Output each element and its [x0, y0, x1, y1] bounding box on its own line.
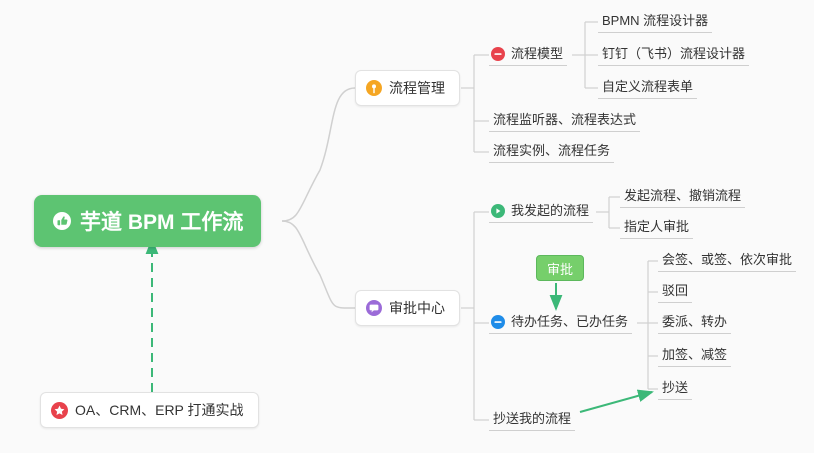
branch-label: 流程管理: [389, 78, 445, 98]
node-label: 我发起的流程: [511, 202, 589, 220]
annotation-label: OA、CRM、ERP 打通实战: [75, 400, 244, 420]
node-dingtalk-designer[interactable]: 钉钉（飞书）流程设计器: [598, 44, 749, 66]
node-label: 会签、或签、依次审批: [662, 251, 792, 269]
root-node[interactable]: 芋道 BPM 工作流: [34, 195, 261, 247]
node-label: 流程模型: [511, 45, 563, 63]
node-start-cancel-process[interactable]: 发起流程、撤销流程: [620, 186, 745, 208]
thumbs-up-icon: [52, 211, 72, 231]
play-circle-icon: [491, 204, 505, 218]
node-my-started-processes[interactable]: 我发起的流程: [489, 201, 593, 223]
branch-label: 审批中心: [389, 298, 445, 318]
node-label: BPMN 流程设计器: [602, 12, 708, 30]
node-listener-expression[interactable]: 流程监听器、流程表达式: [489, 110, 640, 132]
node-delegate-transfer[interactable]: 委派、转办: [658, 312, 731, 334]
node-label: 钉钉（飞书）流程设计器: [602, 45, 745, 63]
node-label: 发起流程、撤销流程: [624, 187, 741, 205]
mindmap-canvas: 芋道 BPM 工作流 流程管理 流程模型 BPMN 流程设计器 钉钉（飞书）流程…: [0, 0, 814, 453]
node-label: 流程监听器、流程表达式: [493, 111, 636, 129]
node-bpmn-designer[interactable]: BPMN 流程设计器: [598, 11, 712, 33]
node-cc[interactable]: 抄送: [658, 378, 692, 400]
branch-node-process-management[interactable]: 流程管理: [355, 70, 460, 106]
branch-node-approval-center[interactable]: 审批中心: [355, 290, 460, 326]
node-todo-done-tasks[interactable]: 待办任务、已办任务: [489, 312, 632, 334]
node-cc-to-me[interactable]: 抄送我的流程: [489, 409, 575, 431]
node-reject[interactable]: 驳回: [658, 281, 692, 303]
node-label: 自定义流程表单: [602, 78, 693, 96]
node-label: 抄送: [662, 379, 688, 397]
node-label: 委派、转办: [662, 313, 727, 331]
node-label: 抄送我的流程: [493, 410, 571, 428]
node-label: 待办任务、已办任务: [511, 313, 628, 331]
annotation-integration-note[interactable]: OA、CRM、ERP 打通实战: [40, 392, 259, 428]
node-instance-task[interactable]: 流程实例、流程任务: [489, 141, 614, 163]
star-circle-icon: [51, 402, 68, 419]
annotation-approval-callout[interactable]: 审批: [536, 255, 584, 281]
node-add-remove-sign[interactable]: 加签、减签: [658, 345, 731, 367]
annotation-label: 审批: [547, 259, 573, 278]
root-label: 芋道 BPM 工作流: [80, 206, 243, 236]
chat-icon: [366, 300, 382, 316]
node-process-model[interactable]: 流程模型: [489, 44, 567, 66]
node-label: 加签、减签: [662, 346, 727, 364]
minus-circle-blue-icon: [491, 315, 505, 329]
node-label: 指定人审批: [624, 218, 689, 236]
node-label: 驳回: [662, 282, 688, 300]
pin-icon: [366, 80, 382, 96]
node-countersign[interactable]: 会签、或签、依次审批: [658, 250, 796, 272]
minus-circle-icon: [491, 47, 505, 61]
node-custom-form[interactable]: 自定义流程表单: [598, 77, 697, 99]
node-label: 流程实例、流程任务: [493, 142, 610, 160]
node-assignee-approval[interactable]: 指定人审批: [620, 217, 693, 239]
